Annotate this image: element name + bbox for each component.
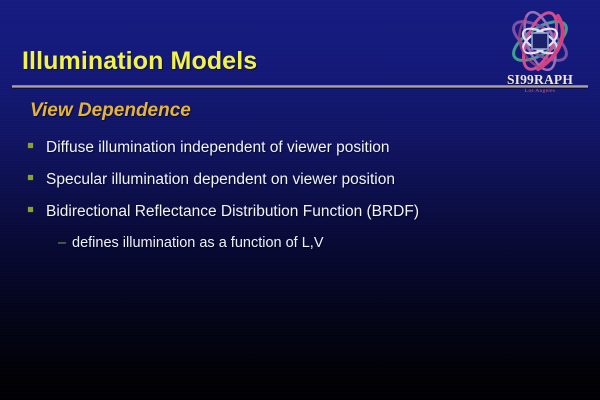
slide-subtitle: View Dependence [30,100,191,122]
en-dash-bullet-icon: – [58,234,72,253]
bullet-item: Bidirectional Reflectance Distribution F… [0,202,600,223]
square-dot-bullet-icon [28,138,46,156]
slide-title: Illumination Models [22,47,257,76]
siggraph-rings-logo-icon [488,6,592,76]
sub-bullet-item: – defines illumination as a function of … [0,234,600,254]
bullet-label: Diffuse illumination independent of view… [46,138,390,158]
slide-canvas: SI99RAPH Los Angeles Illumination Models… [0,0,600,400]
bullet-item: Specular illumination dependent on viewe… [0,170,600,191]
square-dot-bullet-icon [28,170,46,188]
bullet-label: Specular illumination dependent on viewe… [46,170,395,190]
bullet-label: Bidirectional Reflectance Distribution F… [46,202,419,222]
bullet-item: Diffuse illumination independent of view… [0,138,600,159]
title-divider [12,85,588,88]
siggraph-location-label: Los Angeles [488,88,592,94]
square-dot-bullet-icon [28,202,46,220]
slide-body: Diffuse illumination independent of view… [0,138,600,254]
sub-bullet-label: defines illumination as a function of L,… [72,234,323,253]
